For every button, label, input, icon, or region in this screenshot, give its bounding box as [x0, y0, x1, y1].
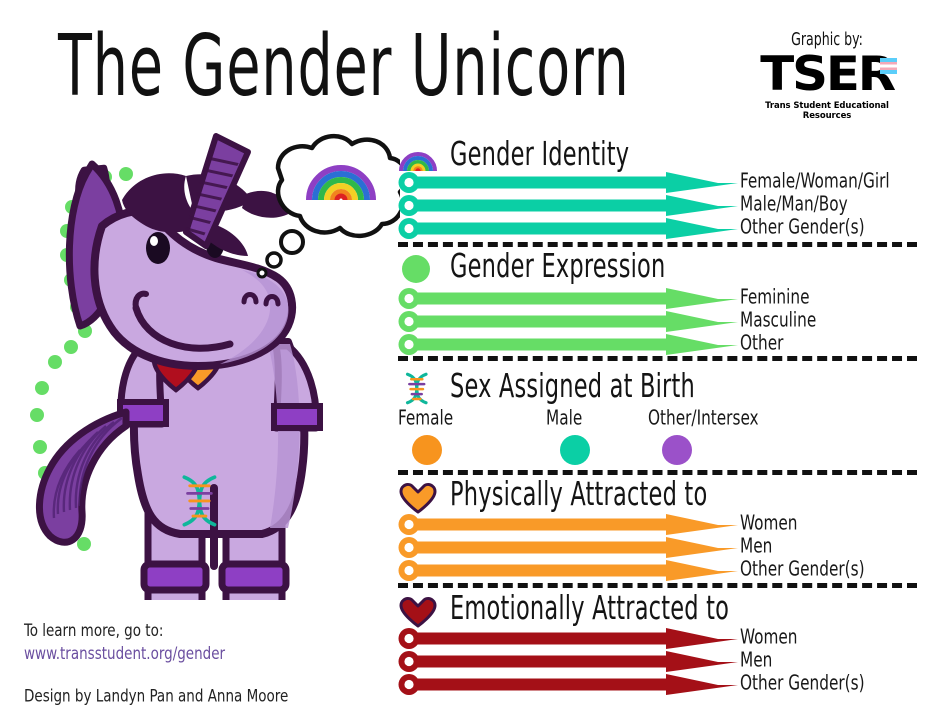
spectrum-arrow — [398, 334, 738, 356]
spectrum-arrow — [398, 628, 738, 650]
spectrum-arrow — [398, 651, 738, 673]
sex-option-female[interactable]: Female — [398, 406, 453, 465]
spectrum-row-label: Female/Woman/Girl — [740, 169, 890, 193]
spectrum-arrow — [398, 514, 738, 536]
orange-heart-icon — [398, 480, 438, 514]
unicorn-head — [69, 136, 292, 366]
sex-option-male[interactable]: Male — [546, 406, 590, 465]
spectrum-arrow — [398, 195, 738, 217]
section-title: Gender Expression — [450, 247, 665, 285]
unicorn-tail — [39, 412, 126, 542]
sex-option-other-intersex[interactable]: Other/Intersex — [648, 406, 759, 465]
section-title: Emotionally Attracted to — [450, 589, 729, 627]
sex-assigned-options: FemaleMaleOther/Intersex — [398, 406, 918, 468]
spectrum-row-label: Other Gender(s) — [740, 557, 865, 581]
section-title: Gender Identity — [450, 135, 629, 173]
section-physically-attracted-to: Physically Attracted to — [398, 480, 918, 514]
red-heart-icon-wrap — [398, 594, 434, 624]
spectrum-row-label: Men — [740, 648, 772, 672]
green-circle-icon-wrap — [398, 252, 434, 282]
tser-tagline: Trans Student Educational Resources — [742, 101, 912, 121]
spectrum-arrow — [398, 218, 738, 240]
spectrum-row[interactable]: Other Gender(s) — [398, 674, 918, 697]
learn-more-text: To learn more, go to: — [24, 618, 384, 644]
section-divider — [398, 242, 917, 247]
tser-logo: Graphic by: TSER Trans Student Education… — [742, 30, 912, 121]
gender-unicorn-infographic: The Gender Unicorn Graphic by: TSER Tran… — [0, 0, 932, 725]
dna-icon — [398, 372, 438, 406]
spectrum-row-label: Women — [740, 625, 798, 649]
footer: To learn more, go to: www.transstudent.o… — [24, 618, 384, 704]
section-rows-physically-attracted-to: Women Men Other Gender(s) — [398, 514, 918, 583]
transstudent-url-link[interactable]: www.transstudent.org/gender — [24, 641, 384, 667]
section-rows-emotionally-attracted-to: Women Men Other Gender(s) — [398, 628, 918, 697]
section-divider — [398, 356, 917, 361]
spectrum-row[interactable]: Masculine — [398, 311, 918, 334]
sex-option-dot[interactable] — [662, 435, 692, 465]
section-divider — [398, 583, 917, 588]
spectrum-row[interactable]: Women — [398, 514, 918, 537]
spectrum-arrow — [398, 560, 738, 582]
spectrum-row-label: Other Gender(s) — [740, 671, 865, 695]
spectrum-row-label: Women — [740, 511, 798, 535]
section-gender-expression: Gender Expression — [398, 252, 918, 286]
section-title: Sex Assigned at Birth — [450, 367, 695, 405]
sex-option-dot[interactable] — [560, 435, 590, 465]
spectrum-row-label: Masculine — [740, 308, 816, 332]
section-divider — [398, 470, 917, 475]
spectrum-row-label: Male/Man/Boy — [740, 192, 848, 216]
sex-option-label: Male — [546, 406, 590, 430]
gender-unicorn-mascot — [30, 130, 400, 600]
spectrum-row[interactable]: Other Gender(s) — [398, 560, 918, 583]
spectrum-row-label: Men — [740, 534, 772, 558]
section-header: Physically Attracted to — [398, 480, 918, 514]
spectrum-row-label: Other Gender(s) — [740, 215, 865, 239]
section-header: Gender Expression — [398, 252, 918, 286]
sex-option-dot[interactable] — [412, 435, 442, 465]
sex-option-label: Female — [398, 406, 453, 430]
spectrum-arrow — [398, 537, 738, 559]
rainbow-icon — [398, 140, 438, 174]
trans-flag-icon — [880, 58, 897, 74]
section-rows-gender-expression: Feminine Masculine Other — [398, 288, 918, 357]
design-credit: Design by Landyn Pan and Anna Moore — [24, 686, 384, 706]
green-circle-icon — [398, 252, 438, 286]
spectrum-arrow — [398, 288, 738, 310]
spectrum-arrow — [398, 172, 738, 194]
section-header: Emotionally Attracted to — [398, 594, 918, 628]
spectrum-row[interactable]: Other — [398, 334, 918, 357]
spectrum-row[interactable]: Women — [398, 628, 918, 651]
section-sex-assigned-at-birth: Sex Assigned at Birth — [398, 372, 918, 406]
spectrum-row-label: Feminine — [740, 285, 810, 309]
tser-wordmark: TSER — [760, 51, 894, 99]
spectrum-row[interactable]: Other Gender(s) — [398, 218, 918, 241]
orange-heart-icon-wrap — [398, 480, 434, 510]
spectrum-arrow — [398, 674, 738, 696]
red-heart-icon — [398, 594, 438, 628]
spectrum-row-label: Other — [740, 331, 783, 355]
dna-icon-wrap — [398, 372, 434, 402]
spectrum-row[interactable]: Feminine — [398, 288, 918, 311]
spectrum-arrow — [398, 311, 738, 333]
unicorn-body — [120, 342, 320, 600]
sex-option-label: Other/Intersex — [648, 406, 759, 430]
section-rows-gender-identity: Female/Woman/Girl Male/Man/Boy Other Gen… — [398, 172, 918, 241]
section-title: Physically Attracted to — [450, 475, 707, 513]
rainbow-icon-wrap — [398, 140, 434, 170]
section-emotionally-attracted-to: Emotionally Attracted to — [398, 594, 918, 628]
section-header: Sex Assigned at Birth — [398, 372, 918, 406]
page-title: The Gender Unicorn — [58, 18, 630, 114]
tser-wordmark-wrap: TSER — [742, 51, 912, 99]
